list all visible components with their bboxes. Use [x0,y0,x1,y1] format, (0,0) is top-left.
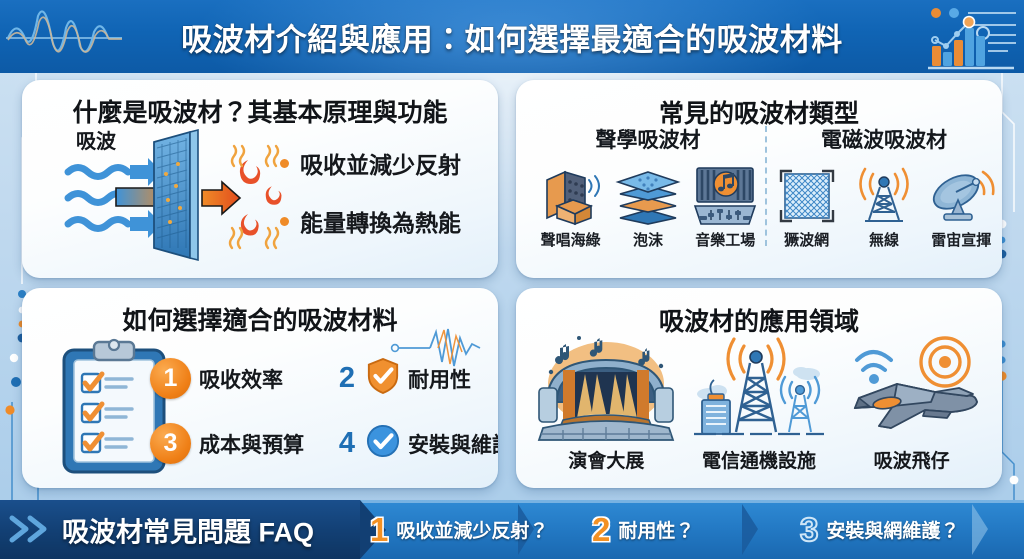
bullet-dot-icon [280,159,289,168]
type-label: 聲唱海綠 [535,229,607,250]
blue-check-circle-icon [366,424,400,463]
type-item: 聲唱海綠 [535,158,607,250]
faq-question: 安裝與網維護？ [826,516,959,543]
card-absorber-types: 常見的吸波材類型 聲學吸波材 [516,80,1002,278]
application-item: 電信通機設施 [685,330,833,473]
criteria-grid: 1 吸收效率 2 耐用性 3 成本與預算 [150,346,494,476]
number-badge-icon: 3 [150,423,191,464]
application-item: 吸波飛仔 [838,330,986,473]
faq-label-block: 吸波材常見問題 FAQ [0,500,360,559]
telecom-towers-icon [685,330,833,444]
number-badge-icon: 1 [150,358,191,399]
card-what-is-absorber: 什麼是吸波材？其基本原理與功能 吸波 [22,80,498,278]
music-studio-mixer-icon [689,158,761,226]
criteria-label: 耐用性 [408,364,471,394]
criteria-item: 2 耐用性 [336,357,494,400]
criteria-row: 1 吸收效率 2 耐用性 [150,346,494,411]
radio-tower-icon [848,158,920,226]
header-bar: 吸波材介紹與應用：如何選擇最適合的吸波材料 [0,0,1024,73]
faq-number: 3 [800,513,818,546]
criteria-label: 安裝與維護 [408,429,498,459]
application-list: 演會大展 [530,330,988,473]
absorber-panel-icon [154,130,198,260]
type-item: 無線 [848,158,920,250]
type-item: 獗波網 [771,158,843,250]
page-title: 吸波材介紹與應用：如何選擇最適合的吸波材料 [0,14,1024,59]
group-heading: 聲學吸波材 [532,124,764,154]
faq-item[interactable]: 3 安裝與網維護？ [800,505,959,554]
card-applications: 吸波材的應用領域 [516,288,1002,488]
faq-separator-arrow [972,504,1002,555]
criteria-number: 4 [336,427,358,460]
shielding-mesh-icon [771,158,843,226]
type-label: 無線 [848,229,920,250]
faq-number: 2 [592,513,610,546]
card-how-to-choose: 如何選擇適合的吸波材料 [22,288,498,488]
stacked-foam-panels-icon [612,158,684,226]
group-acoustic: 聲學吸波材 [532,124,764,250]
group-heading: 電磁波吸波材 [768,124,1000,154]
list-item: 吸收並減少反射 [280,134,492,192]
incoming-wave-label: 吸波 [76,130,117,153]
application-label: 演會大展 [532,446,680,473]
wifi-icon [857,352,891,370]
faq-item[interactable]: 1 吸收並減少反射？ [370,505,548,554]
criteria-item: 4 安裝與維護 [336,424,494,463]
stealth-jet-icon [838,330,986,444]
application-item: 演會大展 [532,330,680,473]
type-label: 泡沫 [612,229,684,250]
criteria-row: 3 成本與預算 4 安裝與維護 [150,411,494,476]
criteria-item: 3 成本與預算 [150,423,336,464]
concert-hall-stage-icon [532,330,680,444]
faq-question: 耐用性？ [618,516,694,543]
type-item: 音樂工場 [689,158,761,250]
orange-shield-check-icon [366,357,400,400]
type-label: 音樂工場 [689,229,761,250]
application-label: 吸波飛仔 [838,446,986,473]
faq-heading: 吸波材常見問題 FAQ [62,510,314,549]
absorption-diagram: 吸波 [62,124,284,266]
criteria-item: 1 吸收效率 [150,358,336,399]
list-item: 能量轉換為熱能 [280,192,492,250]
faq-bar: 吸波材常見問題 FAQ 1 吸收並減少反射？ 2 耐用性？ 3 安裝與網 [0,500,1024,559]
group-electromagnetic: 電磁波吸波材 [768,124,1000,250]
group-divider [765,126,767,246]
type-label: 雷宙宣揮 [925,229,997,250]
criteria-label: 吸收效率 [199,364,283,394]
type-item: 雷宙宣揮 [925,158,997,250]
flame-icon [240,160,282,236]
faq-number: 1 [370,513,388,546]
double-chevron-right-icon [6,512,58,546]
type-label: 獗波網 [771,229,843,250]
criteria-number: 2 [336,362,358,395]
acoustic-foam-block-icon [535,158,607,226]
faq-item[interactable]: 2 耐用性？ [592,505,694,554]
infographic-root: 吸波材介紹與應用：如何選擇最適合的吸波材料 什麼是吸波材？其基本原理與功能 吸波 [0,0,1024,559]
criteria-label: 成本與預算 [199,429,304,459]
faq-item-list: 1 吸收並減少反射？ 2 耐用性？ 3 安裝與網維護？ [360,500,1024,559]
faq-question: 吸收並減少反射？ [396,516,548,543]
bullet-label: 能量轉換為熱能 [300,204,461,238]
bullet-label: 吸收並減少反射 [300,146,461,180]
application-label: 電信通機設施 [685,446,833,473]
type-item: 泡沫 [612,158,684,250]
bullet-dot-icon [280,217,289,226]
faq-separator-arrow [742,504,772,555]
feature-bullet-list: 吸收並減少反射 能量轉換為熱能 [280,134,492,250]
satellite-dish-icon [925,158,997,226]
